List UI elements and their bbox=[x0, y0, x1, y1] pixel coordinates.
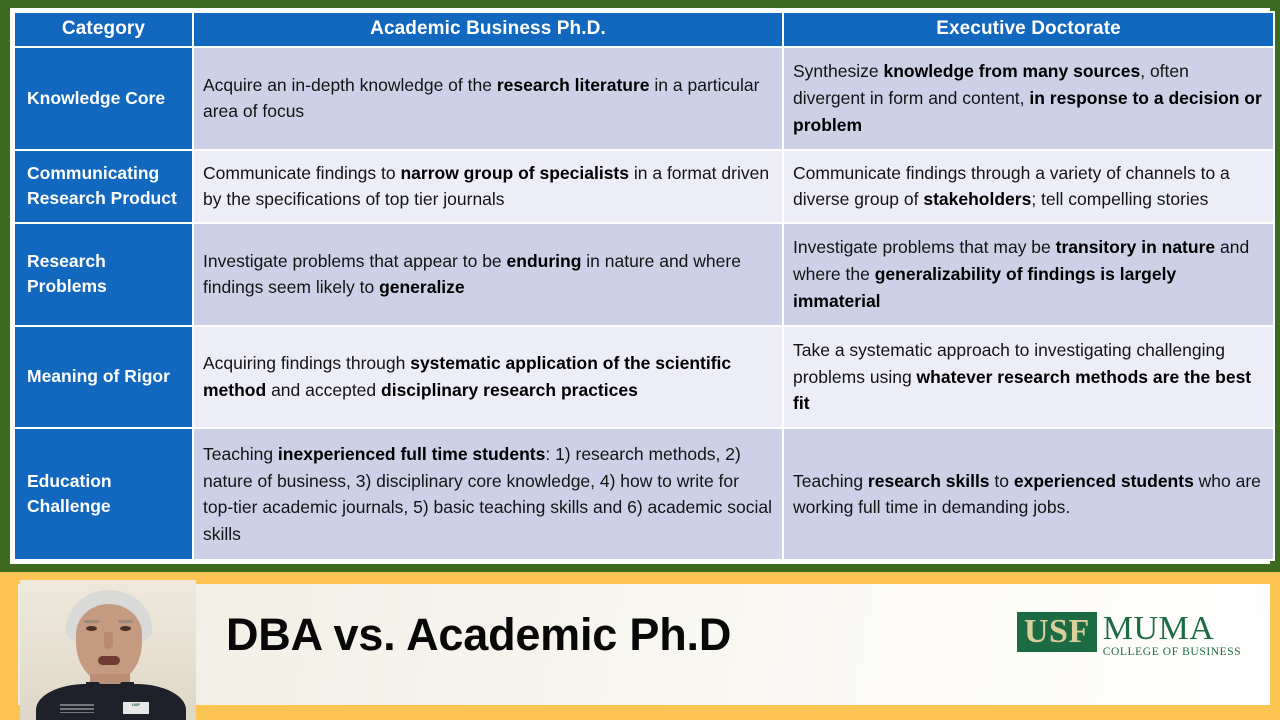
row-category-label: Research Problems bbox=[15, 224, 192, 325]
cell-executive: Take a systematic approach to investigat… bbox=[784, 327, 1273, 428]
cell-academic: Investigate problems that appear to be e… bbox=[194, 224, 782, 325]
table-header-row: Category Academic Business Ph.D. Executi… bbox=[15, 13, 1273, 46]
presenter-eyebrow-left bbox=[84, 620, 99, 623]
table-row: Meaning of Rigor Acquiring findings thro… bbox=[15, 327, 1273, 428]
slide-green-frame: Category Academic Business Ph.D. Executi… bbox=[0, 0, 1280, 572]
presenter-eye-left bbox=[86, 626, 97, 631]
presenter-shirt-embroidery bbox=[60, 704, 94, 713]
table-container: Category Academic Business Ph.D. Executi… bbox=[10, 8, 1270, 564]
presenter-eyebrow-right bbox=[118, 620, 133, 623]
cell-academic: Communicate findings to narrow group of … bbox=[194, 151, 782, 222]
cell-executive: Synthesize knowledge from many sources, … bbox=[784, 48, 1273, 149]
cell-executive: Communicate findings through a variety o… bbox=[784, 151, 1273, 222]
column-header-academic-business-phd: Academic Business Ph.D. bbox=[194, 13, 782, 46]
presenter-nose bbox=[104, 632, 113, 649]
column-header-executive-doctorate: Executive Doctorate bbox=[784, 13, 1273, 46]
table-row: Knowledge Core Acquire an in-depth knowl… bbox=[15, 48, 1273, 149]
cell-academic: Acquiring findings through systematic ap… bbox=[194, 327, 782, 428]
slide-title: DBA vs. Academic Ph.D bbox=[226, 609, 731, 661]
cell-academic: Teaching inexperienced full time student… bbox=[194, 429, 782, 559]
table-row: Communicating Research Product Communica… bbox=[15, 151, 1273, 222]
comparison-table: Category Academic Business Ph.D. Executi… bbox=[13, 11, 1275, 561]
usf-muma-logo: USF MUMA COLLEGE OF BUSINESS bbox=[1017, 612, 1241, 662]
row-category-label: Education Challenge bbox=[15, 429, 192, 559]
slide-canvas: Category Academic Business Ph.D. Executi… bbox=[0, 0, 1280, 720]
college-of-business-tagline: COLLEGE OF BUSINESS bbox=[1103, 646, 1242, 658]
cell-executive: Investigate problems that may be transit… bbox=[784, 224, 1273, 325]
presenter-shirt-logo-icon: USF bbox=[123, 702, 149, 714]
cell-executive: Teaching research skills to experienced … bbox=[784, 429, 1273, 559]
usf-logo-mark: USF bbox=[1017, 612, 1097, 652]
table-row: Research Problems Investigate problems t… bbox=[15, 224, 1273, 325]
row-category-label: Communicating Research Product bbox=[15, 151, 192, 222]
presenter-mouth bbox=[98, 656, 120, 665]
row-category-label: Knowledge Core bbox=[15, 48, 192, 149]
presenter-video[interactable]: USF bbox=[20, 580, 196, 720]
muma-wordmark: MUMA bbox=[1103, 612, 1242, 645]
column-header-category: Category bbox=[15, 13, 192, 46]
row-category-label: Meaning of Rigor bbox=[15, 327, 192, 428]
table-body: Knowledge Core Acquire an in-depth knowl… bbox=[15, 48, 1273, 559]
presenter-eye-right bbox=[120, 626, 131, 631]
logo-wordmark: MUMA COLLEGE OF BUSINESS bbox=[1103, 612, 1242, 658]
table-row: Education Challenge Teaching inexperienc… bbox=[15, 429, 1273, 559]
cell-academic: Acquire an in-depth knowledge of the res… bbox=[194, 48, 782, 149]
